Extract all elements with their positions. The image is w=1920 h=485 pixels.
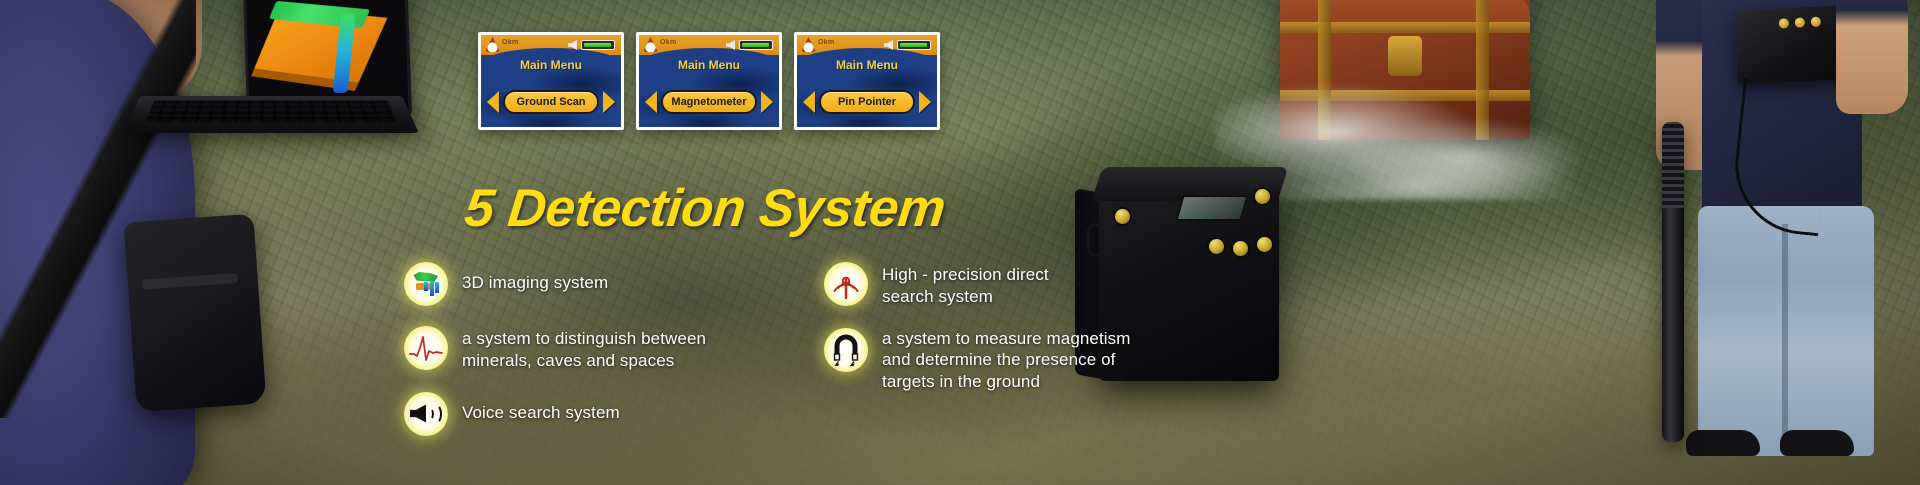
right-person-shoe [1686,430,1760,456]
detector-knob [1253,187,1272,206]
feature-label: High - precision direct search system [882,262,1049,308]
operator-right-person [1640,0,1920,485]
battery-full-icon [739,40,773,50]
mode-button[interactable]: Pin Pointer [819,90,915,114]
brand-label: Okm [502,39,518,46]
next-mode-arrow-icon[interactable] [603,91,615,113]
mode-button[interactable]: Ground Scan [503,90,599,114]
control-knob [1795,17,1806,28]
promo-banner: Okm Main Menu Ground Scan Okm Main Menu … [0,0,1920,485]
laptop-device [140,0,410,159]
antenna-signal-glyph [829,268,863,300]
chest-lock [1388,36,1422,76]
feature-list-left: 3D imaging system a system to distinguis… [404,262,804,450]
chest-strip [1476,0,1489,140]
panel-mode-selector: Pin Pointer [797,90,937,114]
scan-depth-glyph [424,282,428,291]
right-person-shoe [1780,430,1854,456]
feature-list-right: High - precision direct search system a … [824,262,1244,407]
right-person-right-arm [1836,0,1908,114]
waveform-glyph [409,334,443,362]
banner-headline: 5 Detection System [462,178,948,239]
scan-surface-glyph [412,272,438,282]
prev-mode-arrow-icon[interactable] [645,91,657,113]
speaker-wave-glyph [434,400,448,428]
next-mode-arrow-icon[interactable] [919,91,931,113]
right-person-jeans [1698,206,1874,456]
panel-mode-selector: Ground Scan [481,90,621,114]
feature-label: Voice search system [462,392,620,424]
mode-button[interactable]: Magnetometer [661,90,757,114]
control-knob [1811,16,1822,27]
magnet-icon [824,328,868,372]
feature-item-voice-search: Voice search system [404,392,804,436]
panel-title: Main Menu [481,58,621,72]
feature-item-3d-imaging: 3D imaging system [404,262,804,306]
feature-label: a system to distinguish between minerals… [462,326,706,372]
speaker-icon [404,392,448,436]
feature-item-minerals-caves: a system to distinguish between minerals… [404,326,804,372]
next-mode-arrow-icon[interactable] [761,91,773,113]
detector-rod-grip [1662,122,1684,208]
detector-display-screen [1175,195,1248,221]
antenna-signal-icon [824,262,868,306]
feature-label-line2: search system [882,286,1049,308]
panel-title: Main Menu [797,58,937,72]
panel-mode-selector: Magnetometer [639,90,779,114]
prev-mode-arrow-icon[interactable] [487,91,499,113]
feature-label-line2: and determine the presence of [882,349,1131,371]
speaker-cone-glyph [410,405,426,423]
feature-label: 3D imaging system [462,262,608,294]
handheld-control-box [1734,5,1850,85]
panel-title: Main Menu [639,58,779,72]
waveform-icon [404,326,448,370]
treasure-chest [1280,0,1530,140]
device-panel-ground-scan[interactable]: Okm Main Menu Ground Scan [478,32,624,130]
laptop-keyboard-base [123,96,419,133]
chest-strip [1318,0,1331,140]
battery-full-icon [897,40,931,50]
device-panel-pin-pointer[interactable]: Okm Main Menu Pin Pointer [794,32,940,130]
left-person-bag [124,214,267,413]
magnet-glyph [831,334,861,366]
detector-knob [1231,239,1250,258]
feature-item-high-precision: High - precision direct search system [824,262,1244,308]
detector-knob [1113,207,1132,226]
feature-item-magnetism: a system to measure magnetism and determ… [824,328,1244,393]
brand-label: Okm [818,39,834,46]
detector-knob [1255,235,1274,254]
laptop-keys [145,100,396,122]
device-panel-magnetometer[interactable]: Okm Main Menu Magnetometer [636,32,782,130]
device-menu-panels: Okm Main Menu Ground Scan Okm Main Menu … [478,32,940,130]
brand-label: Okm [660,39,676,46]
3d-imaging-icon [404,262,448,306]
scan-depth-glyph [430,282,434,296]
laptop-3d-scan-image [246,0,409,111]
scan-depth-glyph [435,282,439,293]
detector-knob [1207,237,1226,256]
control-knob [1779,18,1790,29]
feature-label-line3: targets in the ground [882,371,1131,393]
feature-label-line2: minerals, caves and spaces [462,350,706,372]
feature-label-line1: a system to distinguish between [462,328,706,350]
feature-label: a system to measure magnetism and determ… [882,328,1131,393]
battery-full-icon [581,40,615,50]
detector-handle [1087,223,1101,257]
feature-label-line1: a system to measure magnetism [882,328,1131,350]
feature-label-line1: High - precision direct [882,264,1049,286]
prev-mode-arrow-icon[interactable] [803,91,815,113]
